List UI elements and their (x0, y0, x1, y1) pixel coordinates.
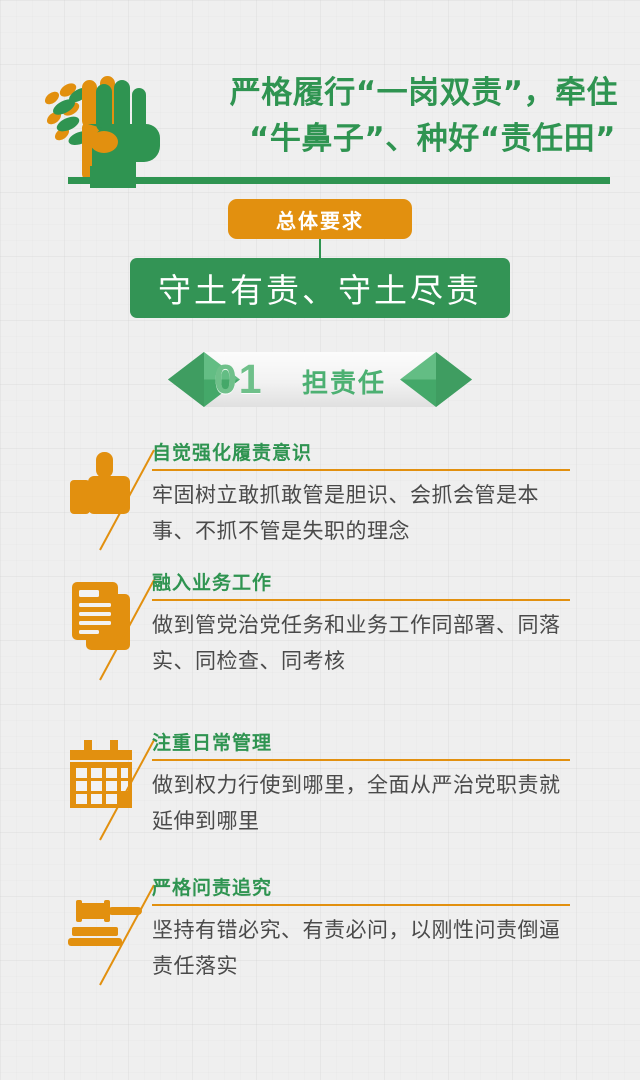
gavel-icon (68, 897, 148, 977)
item-divider (152, 469, 570, 471)
item-text: 做到管党治党任务和业务工作同部署、同落实、同检查、同考核 (152, 607, 572, 679)
title-line-2: “牛鼻子”、种好“责任田” (152, 116, 624, 162)
item-body: 融入业务工作 做到管党治党任务和业务工作同部署、同落实、同检查、同考核 (152, 570, 572, 679)
section-ribbon: 01 担责任 (168, 352, 472, 407)
item-body: 注重日常管理 做到权力行使到哪里，全面从严治党职责就延伸到哪里 (152, 730, 572, 839)
item-text: 做到权力行使到哪里，全面从严治党职责就延伸到哪里 (152, 767, 572, 839)
section-number: 01 (214, 356, 264, 403)
header-divider (68, 177, 610, 184)
documents-icon (68, 580, 148, 660)
section-label: 担责任 (302, 363, 386, 400)
calendar-icon (68, 740, 148, 820)
overall-requirement-badge: 总体要求 (228, 199, 412, 239)
item-title: 注重日常管理 (152, 730, 572, 756)
title-line-1: 严格履行“一岗双责”，牵住 (152, 70, 624, 116)
slogan-text: 守土有责、守土尽责 (158, 264, 482, 312)
thumbs-up-icon (68, 450, 148, 530)
item-text: 牢固树立敢抓敢管是胆识、会抓会管是本事、不抓不管是失职的理念 (152, 477, 572, 549)
fist-wheat-icon (38, 62, 168, 188)
header: 严格履行“一岗双责”，牵住 “牛鼻子”、种好“责任田” (0, 0, 640, 190)
overall-requirement-label: 总体要求 (276, 205, 364, 234)
page-title: 严格履行“一岗双责”，牵住 “牛鼻子”、种好“责任田” (152, 70, 624, 162)
item-divider (152, 904, 570, 906)
item-title: 融入业务工作 (152, 570, 572, 596)
item-text: 坚持有错必究、有责必问，以刚性问责倒逼责任落实 (152, 912, 572, 984)
infographic-page: 严格履行“一岗双责”，牵住 “牛鼻子”、种好“责任田” 总体要求 守土有责、守土… (0, 0, 640, 1080)
item-divider (152, 599, 570, 601)
item-body: 自觉强化履责意识 牢固树立敢抓敢管是胆识、会抓会管是本事、不抓不管是失职的理念 (152, 440, 572, 549)
badge-connector-line (319, 239, 321, 258)
item-divider (152, 759, 570, 761)
item-body: 严格问责追究 坚持有错必究、有责必问，以刚性问责倒逼责任落实 (152, 875, 572, 984)
item-title: 严格问责追究 (152, 875, 572, 901)
item-title: 自觉强化履责意识 (152, 440, 572, 466)
slogan-bar: 守土有责、守土尽责 (130, 258, 510, 318)
